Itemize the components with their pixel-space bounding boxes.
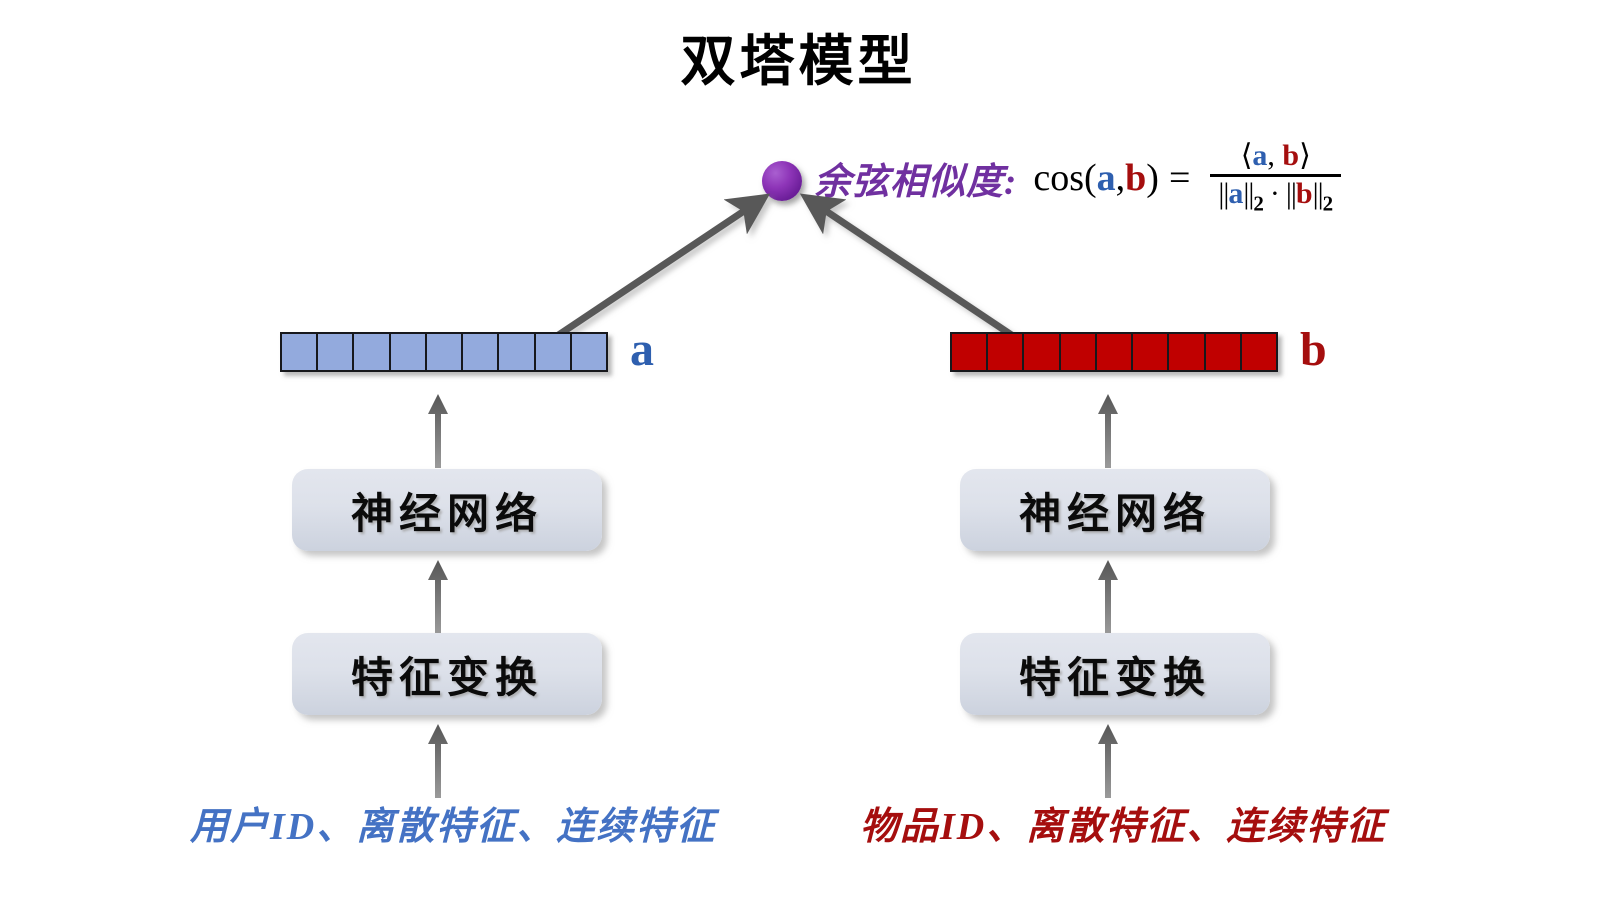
user-neural-network-box: 神经网络 <box>292 469 602 551</box>
arrow-vector-a-to-node <box>548 199 762 342</box>
denominator-b: b <box>1296 177 1313 210</box>
norm-a-close: || <box>1243 177 1253 210</box>
arrow-user-feature-to-nn <box>425 558 451 634</box>
formula-lhs-comma: , <box>1116 156 1126 200</box>
arrow-item-features-to-transform <box>1095 722 1121 798</box>
vector-cell <box>282 334 318 370</box>
formula-lhs-a: a <box>1097 156 1116 200</box>
item-neural-network-box: 神经网络 <box>960 469 1270 551</box>
vector-cell <box>1061 334 1097 370</box>
item-vector-row: b <box>950 330 1370 374</box>
vector-cell <box>499 334 535 370</box>
formula-numerator: ⟨a, b⟩ <box>1233 141 1319 174</box>
formula-fraction: ⟨a, b⟩ ||a||2·||b||2 <box>1210 141 1341 214</box>
user-features-text: 用户ID、离散特征、连续特征 <box>190 795 716 850</box>
user-tower: a <box>280 330 700 374</box>
denominator-dot: · <box>1270 177 1280 210</box>
item-feature-transform-box: 特征变换 <box>960 633 1270 715</box>
item-vector-label: b <box>1300 326 1327 374</box>
norm-a-open: || <box>1218 177 1228 210</box>
vector-cell <box>1206 334 1242 370</box>
vector-cell <box>952 334 988 370</box>
norm-b-open: || <box>1286 177 1296 210</box>
user-vector-label: a <box>630 326 654 374</box>
vector-cell <box>427 334 463 370</box>
numerator-b: b <box>1282 139 1299 172</box>
vector-cell <box>536 334 572 370</box>
arrow-item-nn-to-vector <box>1095 392 1121 468</box>
numerator-comma: , <box>1267 139 1282 172</box>
user-neural-network-label: 神经网络 <box>351 480 543 541</box>
item-features-text: 物品ID、离散特征、连续特征 <box>860 795 1386 850</box>
vector-cell <box>988 334 1024 370</box>
user-feature-transform-box: 特征变换 <box>292 633 602 715</box>
norm-b-close: || <box>1313 177 1323 210</box>
numerator-a: a <box>1252 139 1267 172</box>
cosine-formula: cos(a, b) = ⟨a, b⟩ ||a||2·||b||2 <box>1033 141 1341 214</box>
arrow-user-features-to-transform <box>425 722 451 798</box>
vector-cell <box>354 334 390 370</box>
page-title: 双塔模型 <box>0 16 1597 96</box>
vector-cell <box>1169 334 1205 370</box>
purple-sphere-node-icon <box>762 161 802 201</box>
vector-cell <box>1133 334 1169 370</box>
denominator-a: a <box>1228 177 1243 210</box>
formula-equals: = <box>1169 156 1190 200</box>
vector-cell <box>572 334 606 370</box>
vector-cell <box>1097 334 1133 370</box>
item-feature-transform-label: 特征变换 <box>1019 644 1211 705</box>
formula-denominator: ||a||2·||b||2 <box>1210 177 1341 215</box>
item-embedding-vector <box>950 332 1278 372</box>
formula-lhs-prefix: cos( <box>1033 156 1096 200</box>
vector-cell <box>463 334 499 370</box>
inner-product-close: ⟩ <box>1299 139 1311 172</box>
norm-b-subscript: 2 <box>1323 191 1334 215</box>
vector-cell <box>391 334 427 370</box>
vector-cell <box>1242 334 1276 370</box>
formula-lhs-b: b <box>1125 156 1146 200</box>
vector-cell <box>318 334 354 370</box>
user-embedding-vector <box>280 332 608 372</box>
vector-cell <box>1024 334 1060 370</box>
inner-product-open: ⟨ <box>1241 139 1253 172</box>
arrow-user-nn-to-vector <box>425 392 451 468</box>
user-feature-transform-label: 特征变换 <box>351 644 543 705</box>
arrow-item-feature-to-nn <box>1095 558 1121 634</box>
slide-canvas: 双塔模型 余弦相似度: cos(a, b) = ⟨a, b⟩ ||a||2·||… <box>0 0 1597 897</box>
norm-a-subscript: 2 <box>1253 191 1264 215</box>
user-vector-row: a <box>280 330 700 374</box>
cosine-similarity-label: 余弦相似度: <box>814 151 1017 205</box>
item-neural-network-label: 神经网络 <box>1019 480 1211 541</box>
formula-lhs-suffix: ) <box>1146 156 1159 200</box>
item-tower: b <box>950 330 1370 374</box>
similarity-row: 余弦相似度: cos(a, b) = ⟨a, b⟩ ||a||2·||b||2 <box>762 132 1341 224</box>
